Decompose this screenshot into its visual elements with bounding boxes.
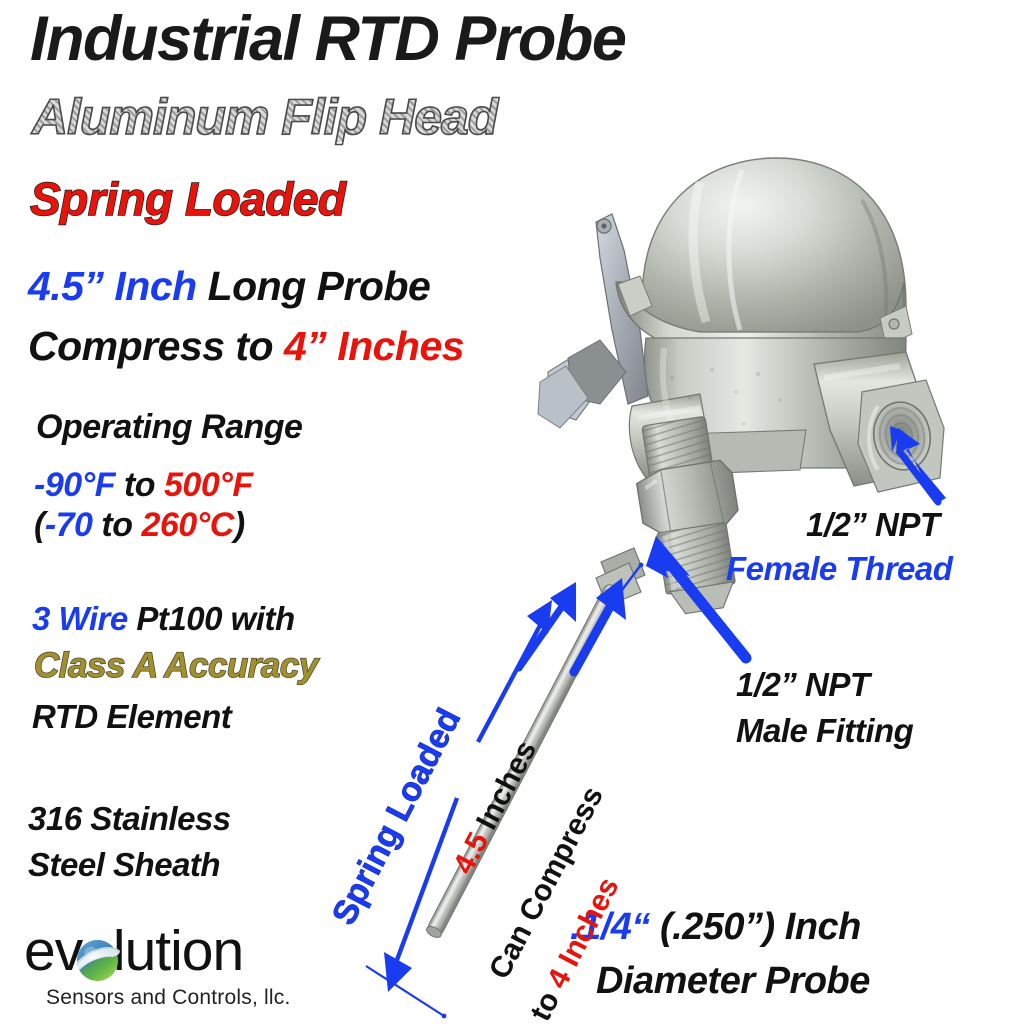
male-fitting-callout-line2: Male Fitting — [736, 714, 913, 747]
company-logo[interactable]: evolution — [24, 918, 292, 1018]
arrow-up-icon — [574, 578, 626, 672]
diameter-callout-line1: .1/4“ (.250”) Inch — [570, 908, 861, 946]
female-thread-callout-line2: Female Thread — [726, 552, 952, 585]
logo-wordmark: evolution — [24, 918, 243, 984]
logo-wordmark-right: lution — [113, 919, 243, 983]
operating-range-celsius: (-70 to 260°C) — [34, 508, 245, 542]
product-subtitle: Aluminum Flip Head — [32, 92, 497, 142]
sheath-material-line1: 316 Stainless — [28, 802, 231, 835]
spring-loaded-badge: Spring Loaded — [30, 176, 346, 222]
probe-compress-value: 4” Inches — [284, 323, 464, 369]
male-fitting-callout-line1: 1/2” NPT — [736, 668, 870, 701]
page-title: Industrial RTD Probe — [30, 8, 625, 71]
probe-length-value: 4.5” Inch — [28, 263, 197, 309]
female-npt-port — [814, 352, 944, 492]
element-accuracy-class: Class A Accuracy — [34, 648, 318, 683]
element-type-label: RTD Element — [32, 700, 231, 733]
range-f-high: 500°F — [164, 466, 253, 504]
range-f-low: -90°F — [34, 466, 115, 504]
element-wire-rest: Pt100 with — [128, 600, 295, 637]
sheath-material-line2: Steel Sheath — [28, 848, 220, 881]
operating-range-fahrenheit: -90°F to 500°F — [34, 468, 253, 502]
element-wire-count: 3 Wire — [32, 600, 128, 637]
probe-compress-prefix: Compress to — [28, 323, 284, 369]
range-c-open: ( — [34, 506, 45, 544]
diameter-callout-line2: Diameter Probe — [596, 962, 870, 1000]
leader-line-probe-tip — [366, 966, 446, 1018]
diameter-rest: (.250”) Inch — [650, 906, 861, 948]
probe-compress-line: Compress to 4” Inches — [28, 326, 464, 367]
female-thread-callout-line1: 1/2” NPT — [806, 508, 940, 541]
probe-length-line: 4.5” Inch Long Probe — [28, 266, 430, 307]
range-f-mid: to — [115, 466, 164, 504]
range-c-low: -70 — [45, 506, 93, 544]
range-c-high: 260°C — [141, 506, 233, 544]
flip-head-latch-lever — [538, 214, 648, 428]
element-wiring-line: 3 Wire Pt100 with — [32, 602, 295, 635]
probe-head-dome-cap — [642, 158, 906, 342]
range-c-close: ) — [234, 506, 245, 544]
probe-length-rest: Long Probe — [197, 263, 431, 309]
operating-range-label: Operating Range — [36, 410, 302, 444]
range-c-mid: to — [92, 506, 141, 544]
globe-sphere-icon — [73, 935, 122, 984]
logo-tagline: Sensors and Controls, llc. — [46, 986, 290, 1010]
product-image-canvas: Industrial RTD Probe Aluminum Flip Head … — [0, 0, 1024, 1024]
